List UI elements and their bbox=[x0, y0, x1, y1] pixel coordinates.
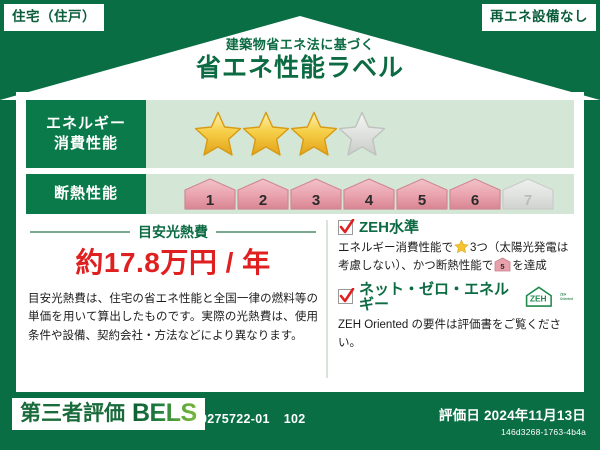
insulation-label-text: 断熱性能 bbox=[54, 184, 118, 204]
insulation-level-label: 7 bbox=[502, 193, 554, 208]
certificate-number-main: 0275722-01 bbox=[200, 412, 270, 426]
net-zero-title: ネット・ゼロ・エネルギー bbox=[359, 282, 516, 312]
zeh-standard-desc: エネルギー消費性能で3つ（太陽光発電は考慮しない）、かつ断熱性能で5を達成 bbox=[338, 239, 574, 276]
svg-text:5: 5 bbox=[501, 262, 505, 271]
utility-cost-amount: 約17.8万円 / 年 bbox=[26, 248, 320, 279]
insulation-performance-label: 断熱性能 bbox=[26, 174, 146, 214]
tag-renewable-equipment: 再エネ設備なし bbox=[482, 4, 596, 31]
bels-logo: 第三者評価 BELS bbox=[12, 398, 205, 430]
zeh-standard-head: ZEH水準 bbox=[338, 220, 574, 235]
zeh-logo-subtext: ZEH Oriented bbox=[560, 290, 574, 304]
net-zero-energy-item: ネット・ゼロ・エネルギー ZEH ZEH Oriented ZEH Orient… bbox=[338, 282, 574, 353]
insulation-performance-row: 断熱性能 1234567 bbox=[26, 174, 574, 214]
utility-cost-heading-text: 目安光熱費 bbox=[138, 222, 208, 242]
zeh-standard-item: ZEH水準 エネルギー消費性能で3つ（太陽光発電は考慮しない）、かつ断熱性能で5… bbox=[338, 220, 574, 276]
rule-right bbox=[216, 231, 316, 233]
insulation-level-label: 6 bbox=[449, 193, 501, 208]
tag-building-type: 住宅（住戸） bbox=[4, 4, 104, 31]
svg-text:ZEH: ZEH bbox=[560, 293, 567, 297]
zeh-standard-title: ZEH水準 bbox=[359, 220, 419, 235]
evaluation-date: 評価日 2024年11月13日 bbox=[439, 404, 586, 424]
check-icon bbox=[339, 219, 355, 237]
insulation-level-2: 2 bbox=[237, 178, 289, 210]
label-card: エネルギー 消費性能 断熱性能 1234567 目安光熱費 約17.8万円 / … bbox=[16, 92, 584, 392]
footer: 第三者評価 BELS 0275722-01102 評価日 2024年11月13日… bbox=[0, 392, 600, 450]
insulation-performance-value: 1234567 bbox=[146, 174, 574, 214]
star-filled-icon bbox=[290, 110, 338, 158]
insulation-level-label: 5 bbox=[396, 193, 448, 208]
check-icon bbox=[339, 288, 355, 306]
insulation-level-3: 3 bbox=[290, 178, 342, 210]
energy-label-line1: エネルギー bbox=[46, 114, 126, 134]
star-filled-icon bbox=[194, 110, 242, 158]
lower-section: 目安光熱費 約17.8万円 / 年 目安光熱費は、住宅の省エネ性能と全国一律の燃… bbox=[26, 220, 574, 378]
zeh-desc-part1: エネルギー消費性能で bbox=[338, 242, 453, 254]
utility-cost-note: 目安光熱費は、住宅の省エネ性能と全国一律の燃料等の単価を用いて算出したものです。… bbox=[26, 290, 320, 346]
zeh-section: ZEH水準 エネルギー消費性能で3つ（太陽光発電は考慮しない）、かつ断熱性能で5… bbox=[326, 220, 574, 378]
energy-performance-label: エネルギー 消費性能 bbox=[26, 100, 146, 168]
net-zero-head: ネット・ゼロ・エネルギー ZEH ZEH Oriented bbox=[338, 282, 574, 312]
insulation-level-label: 4 bbox=[343, 193, 395, 208]
svg-text:ZEH: ZEH bbox=[530, 293, 547, 303]
zeh-logo-icon: ZEH bbox=[524, 284, 554, 310]
insulation-level-label: 2 bbox=[237, 193, 289, 208]
insulation-level-label: 1 bbox=[184, 193, 236, 208]
title-subtitle: 建築物省エネ法に基づく bbox=[0, 38, 600, 52]
zeh-desc-part3: を達成 bbox=[512, 260, 547, 272]
rule-left bbox=[30, 231, 130, 233]
insulation-level-5: 5 bbox=[396, 178, 448, 210]
insulation-level-1: 1 bbox=[184, 178, 236, 210]
insulation-level-label: 3 bbox=[290, 193, 342, 208]
zeh-standard-checkbox[interactable] bbox=[338, 220, 353, 235]
evaluation-info: 評価日 2024年11月13日 146d3268-1763-4b4a bbox=[439, 404, 586, 437]
insulation-level-6: 6 bbox=[449, 178, 501, 210]
net-zero-checkbox[interactable] bbox=[338, 289, 353, 304]
star-filled-icon bbox=[242, 110, 290, 158]
energy-label-line2: 消費性能 bbox=[54, 134, 118, 154]
net-zero-desc: ZEH Oriented の要件は評価書をご覧ください。 bbox=[338, 316, 574, 353]
bels-logo-en: BELS bbox=[132, 401, 197, 426]
title-main: 省エネ性能ラベル bbox=[0, 54, 600, 83]
star-empty-icon bbox=[338, 110, 386, 158]
energy-performance-row: エネルギー 消費性能 bbox=[26, 100, 574, 168]
energy-performance-value bbox=[146, 100, 574, 168]
evaluation-hash: 146d3268-1763-4b4a bbox=[439, 427, 586, 437]
certificate-number-suffix: 102 bbox=[284, 412, 306, 426]
inline-star-icon bbox=[454, 239, 469, 254]
insulation-level-list: 1234567 bbox=[184, 178, 554, 210]
insulation-level-7: 7 bbox=[502, 178, 554, 210]
utility-cost-section: 目安光熱費 約17.8万円 / 年 目安光熱費は、住宅の省エネ性能と全国一律の燃… bbox=[26, 220, 326, 378]
insulation-level-4: 4 bbox=[343, 178, 395, 210]
certificate-number: 0275722-01102 bbox=[200, 412, 306, 426]
label-title: 建築物省エネ法に基づく 省エネ性能ラベル bbox=[0, 38, 600, 83]
inline-level-badge: 5 bbox=[494, 257, 511, 272]
bels-logo-jp: 第三者評価 bbox=[20, 403, 125, 424]
star-rating bbox=[194, 110, 386, 158]
utility-cost-heading: 目安光熱費 bbox=[26, 220, 320, 242]
svg-text:Oriented: Oriented bbox=[560, 297, 573, 301]
